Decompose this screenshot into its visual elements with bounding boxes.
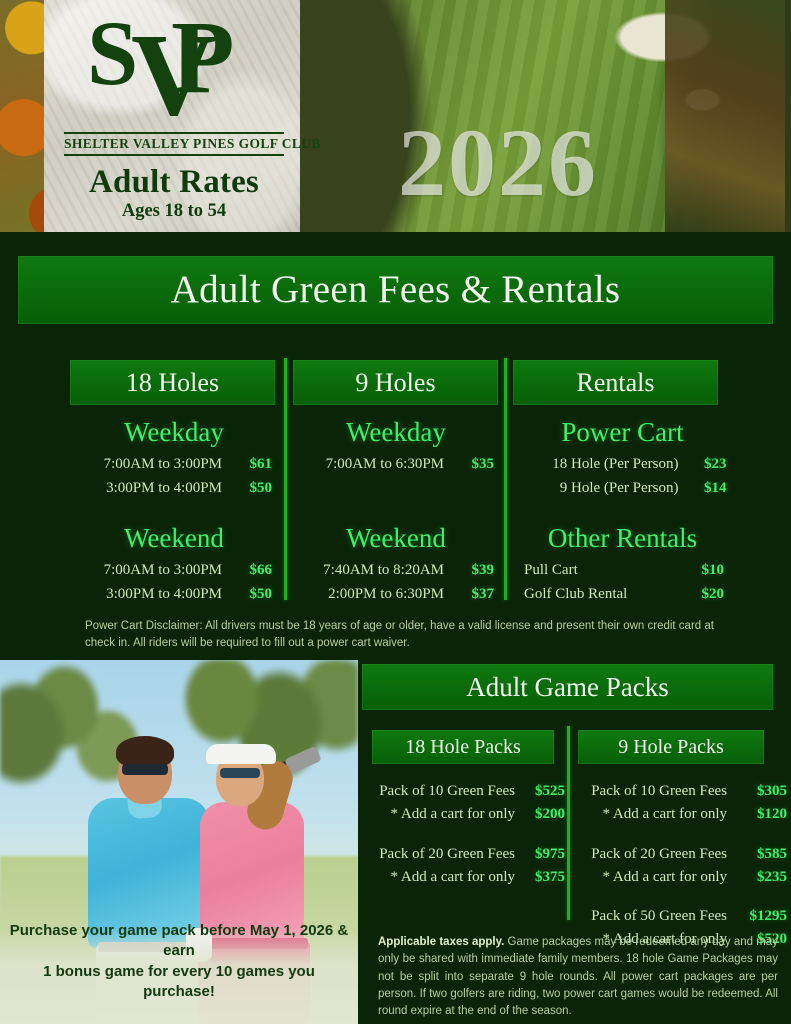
- rate-label: 7:00AM to 3:00PM: [76, 559, 222, 583]
- rate-group-title: Weekday: [60, 418, 288, 446]
- pack-label: Pack of 50 Green Fees: [575, 905, 727, 928]
- svp-monogram-icon: S V P: [58, 10, 290, 132]
- pack-label: Pack of 10 Green Fees: [363, 780, 515, 803]
- pack-label: * Add a cart for only: [575, 803, 727, 826]
- column-divider: [504, 358, 507, 600]
- rate-label: 7:00AM to 3:00PM: [76, 453, 222, 477]
- rate-label: Pull Cart: [524, 559, 676, 583]
- page-subtitle: Ages 18 to 54: [58, 202, 290, 221]
- tax-note-emphasis: Applicable taxes apply.: [378, 936, 504, 948]
- photo-female-golfer-sunglasses: [220, 768, 260, 778]
- rates-column-9-holes: Weekday 7:00AM to 6:30PM $35 Weekend 7:4…: [288, 418, 504, 606]
- column-divider: [567, 726, 570, 920]
- tax-note-body: Game packages may be redeemed any day an…: [378, 936, 778, 1017]
- pack-row: * Add a cart for only $200: [360, 803, 565, 826]
- svg-text:P: P: [171, 10, 235, 115]
- green-fees-heading: Adult Green Fees & Rentals: [18, 256, 773, 324]
- pack-amount: $975: [515, 843, 565, 866]
- pack-amount: $305: [727, 780, 787, 803]
- rate-group-title: Weekend: [288, 524, 504, 552]
- pack-label: Pack of 20 Green Fees: [363, 843, 515, 866]
- rate-amount: $39: [444, 559, 494, 583]
- pack-row: Pack of 10 Green Fees $525: [360, 780, 565, 803]
- rate-row: 3:00PM to 4:00PM $50: [60, 583, 288, 607]
- rate-label: 18 Hole (Per Person): [519, 453, 679, 477]
- rate-amount: $35: [444, 453, 494, 477]
- rate-row: Golf Club Rental $20: [510, 583, 735, 607]
- rate-row: 9 Hole (Per Person) $14: [510, 477, 735, 501]
- pack-group: Pack of 10 Green Fees $525 * Add a cart …: [360, 780, 565, 827]
- golfers-photo: Purchase your game pack before May 1, 20…: [0, 660, 358, 1024]
- pack-amount: $375: [515, 866, 565, 889]
- rates-column-rentals: Power Cart 18 Hole (Per Person) $23 9 Ho…: [510, 418, 735, 606]
- power-cart-disclaimer: Power Cart Disclaimer: All drivers must …: [85, 618, 715, 651]
- rate-row: 2:00PM to 6:30PM $37: [288, 583, 504, 607]
- rate-group-weekday: Weekday 7:00AM to 3:00PM $61 3:00PM to 4…: [60, 418, 288, 501]
- pack-group: Pack of 20 Green Fees $585 * Add a cart …: [572, 843, 787, 890]
- rate-group-weekday: Weekday 7:00AM to 6:30PM $35: [288, 418, 504, 501]
- header-banner: 2026 S V P SHELTER VALLEY PINES GOLF CLU…: [0, 0, 791, 232]
- photo-female-golfer-visor: [206, 744, 276, 764]
- club-logo: S V P SHELTER VALLEY PINES GOLF CLUB Adu…: [58, 10, 290, 220]
- pack-row: Pack of 20 Green Fees $975: [360, 843, 565, 866]
- rate-group-weekend: Weekend 7:00AM to 3:00PM $66 3:00PM to 4…: [60, 524, 288, 607]
- rate-group-other-rentals: Other Rentals Pull Cart $10 Golf Club Re…: [510, 524, 735, 607]
- pack-row: * Add a cart for only $120: [572, 803, 787, 826]
- column-header-rentals: Rentals: [513, 360, 718, 405]
- rate-group-title: Weekend: [60, 524, 288, 552]
- rate-row: 7:00AM to 3:00PM $61: [60, 453, 288, 477]
- pack-amount: $200: [515, 803, 565, 826]
- pack-row: Pack of 50 Green Fees $1295: [572, 905, 787, 928]
- rate-amount: $14: [679, 477, 727, 501]
- rate-group-power-cart: Power Cart 18 Hole (Per Person) $23 9 Ho…: [510, 418, 735, 501]
- pack-amount: $525: [515, 780, 565, 803]
- column-header-9-holes: 9 Holes: [293, 360, 498, 405]
- rate-group-title: Other Rentals: [510, 524, 735, 552]
- rate-row: 3:00PM to 4:00PM $50: [60, 477, 288, 501]
- page-title: Adult Rates: [58, 166, 290, 200]
- rate-row: 7:40AM to 8:20AM $39: [288, 559, 504, 583]
- rate-label: 2:00PM to 6:30PM: [298, 583, 444, 607]
- rate-label: 9 Hole (Per Person): [519, 477, 679, 501]
- rate-amount: $23: [679, 453, 727, 477]
- column-header-9-hole-packs: 9 Hole Packs: [578, 730, 764, 764]
- rate-label: 3:00PM to 4:00PM: [76, 477, 222, 501]
- pack-row: Pack of 10 Green Fees $305: [572, 780, 787, 803]
- rate-group-title: Weekday: [288, 418, 504, 446]
- pack-label: * Add a cart for only: [363, 803, 515, 826]
- game-packs-tax-note: Applicable taxes apply. Game packages ma…: [378, 934, 778, 1020]
- pack-amount: $235: [727, 866, 787, 889]
- rate-amount: $50: [222, 477, 272, 501]
- rate-label: 7:40AM to 8:20AM: [298, 559, 444, 583]
- rate-row: Pull Cart $10: [510, 559, 735, 583]
- pack-amount: $585: [727, 843, 787, 866]
- rate-row: 7:00AM to 6:30PM $35: [288, 453, 504, 477]
- club-name: SHELTER VALLEY PINES GOLF CLUB: [64, 132, 284, 156]
- rate-row: 7:00AM to 3:00PM $66: [60, 559, 288, 583]
- pack-row: * Add a cart for only $235: [572, 866, 787, 889]
- rate-label: 7:00AM to 6:30PM: [298, 453, 444, 477]
- pack-label: * Add a cart for only: [575, 866, 727, 889]
- pack-label: * Add a cart for only: [363, 866, 515, 889]
- promo-text: Purchase your game pack before May 1, 20…: [8, 921, 350, 1002]
- rate-group-weekend: Weekend 7:40AM to 8:20AM $39 2:00PM to 6…: [288, 524, 504, 607]
- pack-label: Pack of 10 Green Fees: [575, 780, 727, 803]
- pack-row: * Add a cart for only $375: [360, 866, 565, 889]
- rates-column-18-holes: Weekday 7:00AM to 3:00PM $61 3:00PM to 4…: [60, 418, 288, 606]
- rate-label: Golf Club Rental: [524, 583, 676, 607]
- rate-sheet-page: 2026 S V P SHELTER VALLEY PINES GOLF CLU…: [0, 0, 791, 1024]
- game-packs-heading: Adult Game Packs: [362, 664, 773, 710]
- promo-line-2: 1 bonus game for every 10 games you purc…: [8, 962, 350, 1003]
- year-overlay: 2026: [398, 115, 758, 211]
- rate-amount: $66: [222, 559, 272, 583]
- pack-amount: $120: [727, 803, 787, 826]
- rate-amount: $10: [676, 559, 724, 583]
- packs-column-18-hole: Pack of 10 Green Fees $525 * Add a cart …: [360, 780, 565, 905]
- rate-group-title: Power Cart: [510, 418, 735, 446]
- photo-male-golfer-sunglasses: [122, 764, 168, 775]
- pack-amount: $1295: [727, 905, 787, 928]
- rate-row: 18 Hole (Per Person) $23: [510, 453, 735, 477]
- pack-group: Pack of 10 Green Fees $305 * Add a cart …: [572, 780, 787, 827]
- rate-label: 3:00PM to 4:00PM: [76, 583, 222, 607]
- column-header-18-hole-packs: 18 Hole Packs: [372, 730, 554, 764]
- rate-amount: $50: [222, 583, 272, 607]
- rate-amount: $20: [676, 583, 724, 607]
- column-header-18-holes: 18 Holes: [70, 360, 275, 405]
- pack-group: Pack of 20 Green Fees $975 * Add a cart …: [360, 843, 565, 890]
- pack-row: Pack of 20 Green Fees $585: [572, 843, 787, 866]
- pack-label: Pack of 20 Green Fees: [575, 843, 727, 866]
- rate-amount: $37: [444, 583, 494, 607]
- rate-amount: $61: [222, 453, 272, 477]
- promo-line-1: Purchase your game pack before May 1, 20…: [8, 921, 350, 962]
